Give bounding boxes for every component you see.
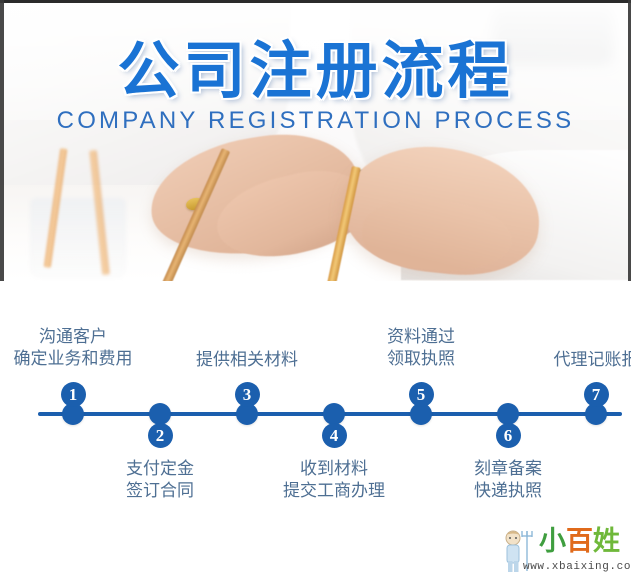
timeline-label-5: 资料通过 领取执照 [321,326,521,370]
timeline-badge-6[interactable]: 6 [496,423,521,448]
timeline-label-3: 提供相关材料 [147,349,347,371]
watermark: 小百姓 www.xbaixing.com [497,527,629,579]
timeline-label-4: 收到材料 提交工商办理 [234,458,434,502]
timeline-badge-2[interactable]: 2 [148,423,173,448]
timeline-badge-3[interactable]: 3 [235,382,260,407]
timeline-label-7: 代理记账报 [496,349,631,371]
timeline-badge-1[interactable]: 1 [61,382,86,407]
timeline-badge-4[interactable]: 4 [322,423,347,448]
page-subtitle: COMPANY REGISTRATION PROCESS [0,107,631,135]
timeline-dot-4[interactable] [323,403,345,425]
page-root: 公司注册流程 COMPANY REGISTRATION PROCESS 1沟通客… [0,0,631,581]
timeline-badge-5[interactable]: 5 [409,382,434,407]
watermark-brand: 小百姓 [539,528,620,555]
timeline-label-6: 刻章备案 快递执照 [408,458,608,502]
frame-edge-top [0,0,631,3]
timeline-label-2: 支付定金 签订合同 [60,458,260,502]
watermark-url: www.xbaixing.com [523,561,631,573]
page-title: 公司注册流程 [0,40,631,102]
watermark-char-3: 姓 [593,526,620,557]
timeline-dot-2[interactable] [149,403,171,425]
watermark-char-1: 小 [539,526,566,557]
timeline-dot-6[interactable] [497,403,519,425]
header-block: 公司注册流程 COMPANY REGISTRATION PROCESS [0,40,631,135]
timeline-badge-7[interactable]: 7 [584,382,609,407]
watermark-char-2: 百 [566,526,593,557]
